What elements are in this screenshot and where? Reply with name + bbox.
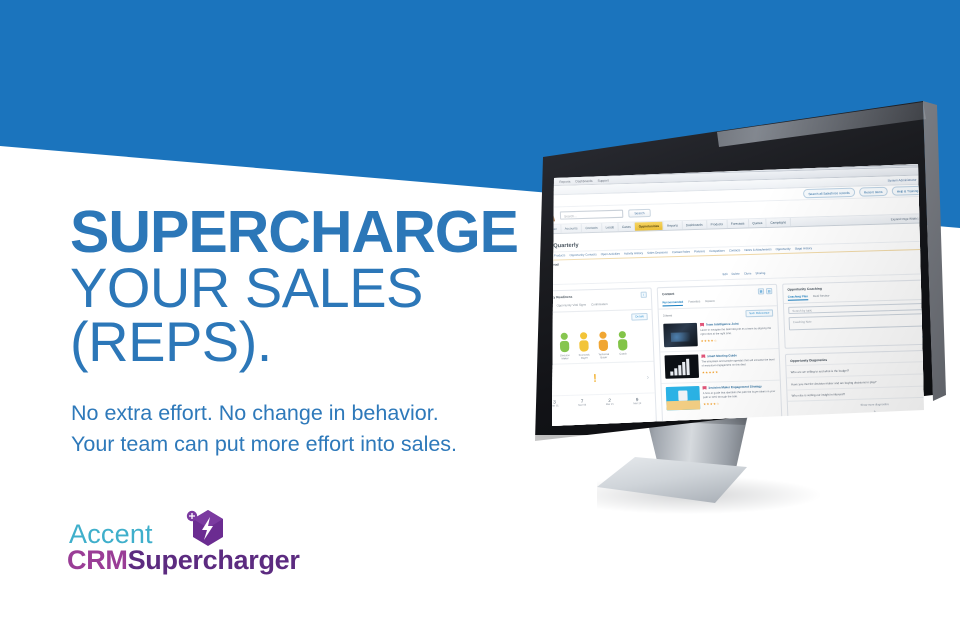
section-link[interactable]: Contacts	[729, 248, 741, 252]
content-item-description: Learn to navigate the deal lifecycle as …	[700, 327, 774, 337]
content-list-item[interactable]: Decision Maker Engagement Strategy A how…	[662, 380, 781, 414]
person-body-icon	[599, 339, 609, 350]
content-item-rating[interactable]: ★★★★☆	[701, 336, 775, 342]
person-body-icon	[560, 341, 570, 352]
content-item-title[interactable]: Decision Maker Engagement Strategy	[708, 384, 762, 390]
tab-recommended[interactable]: Recommended	[662, 299, 683, 306]
content-count-label: 3 items	[663, 314, 672, 318]
brand-logo: Accent CRMSupercharger	[64, 505, 264, 575]
opportunity-diagnostics-panel: Opportunity Diagnostics Who are we selli…	[785, 349, 924, 419]
subhead-line-2: Your team can put more effort into sales…	[71, 429, 571, 460]
headline-line-2: YOUR SALES	[70, 262, 540, 314]
tab-bar-utilities[interactable]: Expand Page Width | Hide Feed | Customiz…	[885, 213, 924, 223]
role-label: Coach	[616, 352, 629, 356]
sparkline-item: 3 Mar 01	[552, 399, 559, 407]
tab-campaigns[interactable]: Campaigns	[767, 218, 791, 227]
subhead-line-1: No extra effort. No change in behavior.	[71, 398, 571, 429]
diagnostic-question: Who are we selling to and what is the bu…	[791, 365, 924, 374]
readiness-details-button[interactable]: Details	[632, 313, 648, 321]
monitor-screen: Firefox File Edit View History Bookmarks…	[552, 164, 924, 426]
tab-cases[interactable]: Cases	[618, 223, 635, 232]
content-item-rating[interactable]: ★★★★★	[702, 368, 776, 374]
sparkline-caption: Mar 08	[578, 404, 586, 407]
bookmark-flag-icon[interactable]	[701, 354, 705, 359]
buying-role-economic-buyer[interactable]: Economic Buyer	[577, 332, 591, 360]
sparkline-item: 9 Mar 22	[633, 397, 641, 405]
role-label: Economic Buyer	[578, 353, 592, 360]
edit-button[interactable]: Edit	[723, 271, 728, 275]
content-item-title[interactable]: Team Intelligence Joint	[706, 322, 739, 327]
content-item-description: A how-to guide that identifies the path …	[703, 390, 777, 400]
content-thumbnail-image	[665, 355, 700, 379]
bookmark-item[interactable]: Support	[598, 178, 609, 182]
section-link[interactable]: Notes & Attachments	[744, 247, 771, 252]
diagnostic-question: Who else is vetting our insight in inbou…	[792, 389, 924, 398]
tab-coaching-plan[interactable]: Coaching Plan	[788, 294, 808, 301]
section-link[interactable]: Products	[554, 253, 566, 257]
buying-role-gauges: Decision Maker Economic Buyer	[552, 321, 653, 364]
tab-deal-review[interactable]: Deal Review	[813, 293, 830, 300]
section-link[interactable]: Partners	[694, 249, 705, 253]
sparkline-item: 7 Mar 08	[578, 398, 586, 406]
section-link[interactable]: Opportunity Contacts	[569, 252, 596, 257]
tab-leads[interactable]: Leads	[602, 223, 619, 232]
readiness-sparklines: 3 Mar 01 7 Mar 08 2 Mar 15	[552, 392, 655, 413]
bookmark-flag-icon[interactable]	[702, 386, 706, 391]
section-link[interactable]: Activity History	[624, 251, 643, 256]
sparkline-item: 2 Mar 15	[606, 398, 614, 406]
coaching-panel-title: Opportunity Coaching	[787, 286, 821, 291]
utility-recent-items[interactable]: Recent Items	[859, 187, 888, 196]
tab-reports[interactable]: Reports	[663, 221, 682, 230]
tab-opportunities[interactable]: Opportunities	[635, 222, 664, 231]
logo-crm-text: CRM	[67, 545, 128, 575]
chevron-right-icon[interactable]: ›	[646, 374, 649, 381]
headline-line-1: SUPERCHARGE	[70, 205, 540, 260]
person-head-icon	[599, 331, 606, 338]
person-body-icon	[618, 339, 628, 350]
section-link[interactable]: Stage History	[795, 246, 813, 251]
tab-forecasts[interactable]: Forecasts	[727, 219, 749, 228]
sharing-button[interactable]: Sharing	[755, 270, 765, 274]
section-link[interactable]: Open Activities	[601, 252, 620, 257]
utility-search-records[interactable]: Search all Salesforce records	[803, 188, 855, 198]
tab-recent[interactable]: Recent	[705, 298, 714, 305]
list-view-icon[interactable]: ▤	[766, 287, 772, 293]
hero-headline: SUPERCHARGE YOUR SALES (REPS).	[70, 205, 540, 368]
buying-role-decision-maker[interactable]: Decision Maker	[557, 332, 571, 360]
global-search-button[interactable]: Search	[628, 209, 651, 218]
role-label: Technical Buyer	[597, 353, 611, 360]
grid-view-icon[interactable]: ▦	[758, 288, 764, 294]
top-link-user[interactable]: System Administrator	[888, 178, 917, 183]
bookmark-item[interactable]: Reports	[559, 179, 570, 183]
diagnostic-question: Have you met the decision maker and are …	[791, 378, 924, 387]
readiness-info-icon[interactable]: i	[641, 291, 647, 297]
content-thumbnail-image	[663, 323, 698, 347]
sparkline-caption: Mar 01	[552, 404, 559, 407]
tab-contacts[interactable]: Contacts	[582, 224, 603, 233]
section-link[interactable]: Opportunity	[776, 247, 791, 252]
content-item-description: The templates and sample agendas that wi…	[701, 359, 775, 369]
content-panel-title: Content	[662, 291, 674, 295]
opportunity-coaching-panel: Opportunity Coaching Coaching Plan Deal …	[782, 278, 924, 349]
person-head-icon	[560, 332, 567, 339]
global-search-input[interactable]: Search...	[560, 210, 624, 220]
dashboard-columns: Opportunity Readiness i Readiness Opport…	[552, 273, 924, 426]
content-list-item[interactable]: Smart Meeting Guide The templates and sa…	[660, 349, 780, 384]
coaching-button-row: Clear Check	[785, 329, 924, 348]
person-body-icon	[579, 340, 589, 351]
coaching-search-field-row: Search by topic Coaching Note	[788, 302, 924, 330]
tab-vital-signs[interactable]: Opportunity Vital Signs	[557, 302, 587, 310]
content-list-item[interactable]: Team Intelligence Joint Learn to navigat…	[659, 317, 779, 352]
delete-button[interactable]: Delete	[732, 271, 740, 275]
headline-line-3: (REPS).	[70, 316, 540, 368]
section-link[interactable]: Contact Roles	[672, 250, 690, 255]
buying-role-technical-buyer[interactable]: Technical Buyer	[596, 331, 610, 359]
opportunity-readiness-panel: Opportunity Readiness i Readiness Opport…	[552, 287, 657, 426]
buying-role-coach[interactable]: Coach	[616, 331, 630, 359]
bookmark-item[interactable]: Dashboards	[575, 178, 592, 183]
sparkline-caption: Mar 22	[633, 402, 641, 405]
content-item-title[interactable]: Smart Meeting Guide	[707, 354, 737, 359]
readiness-panel-title: Opportunity Readiness	[552, 294, 573, 299]
tab-dashboards[interactable]: Dashboards	[682, 220, 707, 229]
coaching-note-textarea[interactable]: Coaching Note	[789, 312, 924, 330]
tab-favorites[interactable]: Favorites	[688, 299, 700, 306]
role-label: Decision Maker	[558, 354, 572, 361]
lightning-bolt-hexagon-icon	[182, 506, 226, 554]
coaching-column: Opportunity Coaching Coaching Plan Deal …	[782, 278, 924, 425]
desktop-monitor: Firefox File Edit View History Bookmarks…	[505, 95, 960, 525]
alert-icon: !	[593, 373, 597, 385]
sparkline-caption: Mar 15	[606, 403, 614, 406]
clone-button[interactable]: Clone	[744, 271, 752, 275]
coaching-search-input[interactable]: Search by topic	[788, 302, 924, 314]
readiness-carousel: ‹ ! ›	[552, 361, 655, 396]
person-head-icon	[580, 332, 587, 339]
content-item-rating[interactable]: ★★★★☆	[703, 400, 777, 406]
poster-canvas: SUPERCHARGE YOUR SALES (REPS). No extra …	[0, 0, 960, 640]
content-thumbnail-image	[666, 386, 701, 410]
bookmark-flag-icon[interactable]	[700, 323, 704, 328]
hero-subheadline: No extra effort. No change in behavior. …	[71, 398, 571, 459]
content-panel: Content ▦ ▤ Recommended Favorites Recent	[657, 283, 783, 426]
bar-chart-icon	[670, 359, 690, 376]
tab-quotes[interactable]: Quotes	[749, 219, 767, 228]
content-sort-dropdown[interactable]: Sort: Relevance	[745, 309, 773, 317]
tab-accounts[interactable]: Accounts	[561, 224, 582, 233]
section-link[interactable]: Sales Decisions	[647, 250, 668, 255]
salesforce-app: System Administrator Setup Help & Traini…	[552, 174, 924, 426]
tab-products[interactable]: Products	[707, 220, 728, 229]
person-head-icon	[619, 331, 626, 338]
tab-confirmation[interactable]: Confirmation	[591, 301, 608, 308]
section-link[interactable]: Competitors	[709, 249, 725, 254]
